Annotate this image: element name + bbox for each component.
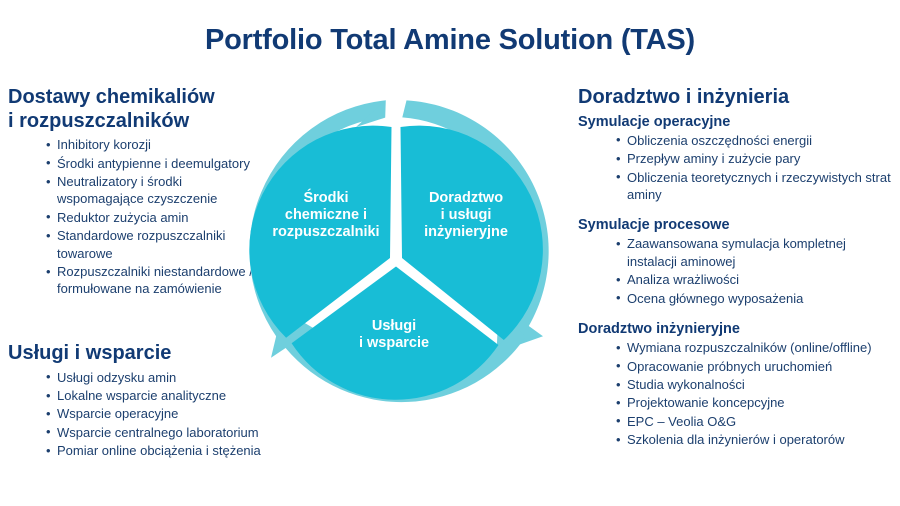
section-chemical-supplies: Dostawy chemikaliów i rozpuszczalników I… bbox=[8, 86, 270, 299]
list-item: Rozpuszczalniki niestandardowe / formuło… bbox=[46, 263, 270, 298]
chemical-supplies-list: Inhibitory korozji Środki antypienne i d… bbox=[8, 136, 270, 298]
cycle-diagram: Środki chemiczne i rozpuszczalniki Dorad… bbox=[238, 100, 554, 405]
list-item: Przepływ aminy i zużycie pary bbox=[616, 150, 896, 167]
list-item: Wsparcie centralnego laboratorium bbox=[46, 424, 288, 441]
list-item: Studia wykonalności bbox=[616, 376, 896, 393]
list-item: Szkolenia dla inżynierów i operatorów bbox=[616, 431, 896, 448]
list-item: Projektowanie koncepcyjne bbox=[616, 394, 896, 411]
subheading: Symulacje procesowe bbox=[578, 216, 896, 234]
group-engineering-consulting: Doradztwo inżynieryjne Wymiana rozpuszcz… bbox=[578, 320, 896, 449]
list-item: Wsparcie operacyjne bbox=[46, 405, 288, 422]
list-item: Pomiar online obciążenia i stężenia bbox=[46, 442, 288, 459]
engineering-consulting-list: Wymiana rozpuszczalników (online/offline… bbox=[578, 339, 896, 448]
group-operational-simulations: Symulacje operacyjne Obliczenia oszczędn… bbox=[578, 113, 896, 204]
list-item: Środki antypienne i deemulgatory bbox=[46, 155, 270, 172]
list-item: Ocena głównego wyposażenia bbox=[616, 290, 896, 307]
list-item: EPC – Veolia O&G bbox=[616, 413, 896, 430]
cycle-segment-label-support: Usługi i wsparcie bbox=[324, 318, 464, 352]
cycle-segment-label-chemicals: Środki chemiczne i rozpuszczalniki bbox=[256, 190, 396, 241]
cycle-segment-label-engineering: Doradztwo i usługi inżynieryjne bbox=[398, 190, 534, 241]
list-item: Wymiana rozpuszczalników (online/offline… bbox=[616, 339, 896, 356]
slide-canvas: Portfolio Total Amine Solution (TAS) Dos… bbox=[0, 0, 900, 506]
list-item: Zaawansowana symulacja kompletnej instal… bbox=[616, 235, 896, 270]
subheading: Symulacje operacyjne bbox=[578, 113, 896, 131]
list-item: Obliczenia oszczędności energii bbox=[616, 132, 896, 149]
cycle-diagram-svg bbox=[238, 100, 554, 405]
list-item: Analiza wrażliwości bbox=[616, 271, 896, 288]
subheading: Doradztwo inżynieryjne bbox=[578, 320, 896, 338]
list-item: Neutralizatory i środki wspomagające czy… bbox=[46, 173, 270, 208]
process-simulations-list: Zaawansowana symulacja kompletnej instal… bbox=[578, 235, 896, 307]
section-consulting-engineering: Doradztwo i inżynieria Symulacje operacy… bbox=[578, 86, 896, 450]
page-title: Portfolio Total Amine Solution (TAS) bbox=[0, 24, 900, 57]
list-item: Standardowe rozpuszczalniki towarowe bbox=[46, 227, 270, 262]
list-item: Obliczenia teoretycznych i rzeczywistych… bbox=[616, 169, 896, 204]
section-consulting-engineering-heading: Doradztwo i inżynieria bbox=[578, 86, 896, 110]
group-process-simulations: Symulacje procesowe Zaawansowana symulac… bbox=[578, 216, 896, 307]
list-item: Reduktor zużycia amin bbox=[46, 209, 270, 226]
operational-simulations-list: Obliczenia oszczędności energii Przepływ… bbox=[578, 132, 896, 204]
list-item: Inhibitory korozji bbox=[46, 136, 270, 153]
list-item: Opracowanie próbnych uruchomień bbox=[616, 358, 896, 375]
heading-line-2: i rozpuszczalników bbox=[8, 110, 270, 134]
section-chemical-supplies-heading: Dostawy chemikaliów i rozpuszczalników bbox=[8, 86, 270, 133]
heading-line-1: Dostawy chemikaliów bbox=[8, 86, 215, 108]
